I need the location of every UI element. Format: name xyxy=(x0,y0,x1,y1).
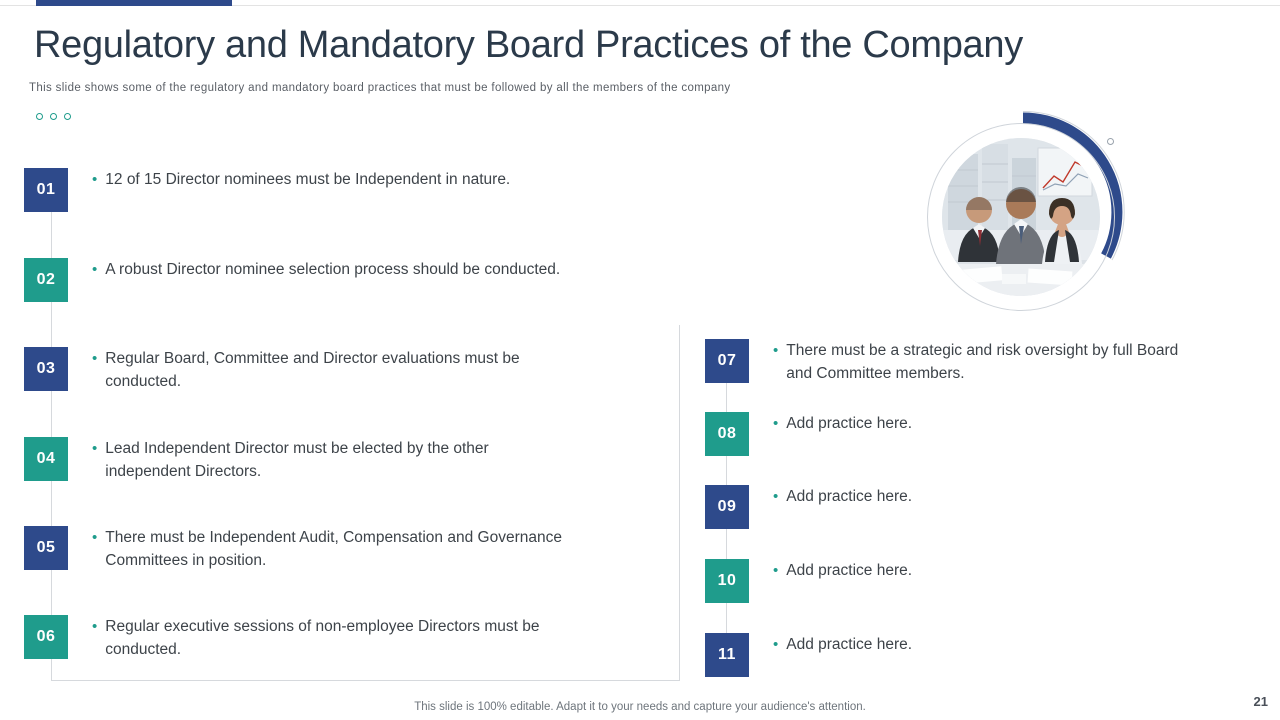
middle-connector-line xyxy=(679,325,680,681)
item-number-badge: 08 xyxy=(705,412,749,456)
bullet-icon: • xyxy=(773,561,778,580)
footer-note: This slide is 100% editable. Adapt it to… xyxy=(0,701,1280,713)
decorative-dots xyxy=(36,113,71,120)
bullet-icon: • xyxy=(92,528,97,547)
item-text: Add practice here. xyxy=(786,485,912,508)
dot-icon-3 xyxy=(64,113,71,120)
list-item-09: 09 • Add practice here. xyxy=(705,485,912,529)
list-item-11: 11 • Add practice here. xyxy=(705,633,912,677)
list-item-02: 02 • A robust Director nominee selection… xyxy=(24,258,560,302)
top-accent-bar xyxy=(36,0,232,6)
bullet-icon: • xyxy=(92,349,97,368)
item-number-badge: 11 xyxy=(705,633,749,677)
slide-canvas: Regulatory and Mandatory Board Practices… xyxy=(0,0,1280,720)
item-number-badge: 07 xyxy=(705,339,749,383)
item-number-badge: 10 xyxy=(705,559,749,603)
item-text: Lead Independent Director must be electe… xyxy=(105,437,575,483)
item-text: Add practice here. xyxy=(786,559,912,582)
list-item-06: 06 • Regular executive sessions of non-e… xyxy=(24,615,575,661)
dot-icon-2 xyxy=(50,113,57,120)
item-number-badge: 04 xyxy=(24,437,68,481)
small-circle-icon xyxy=(1107,138,1114,145)
item-text: Regular Board, Committee and Director ev… xyxy=(105,347,575,393)
bullet-icon: • xyxy=(773,487,778,506)
item-text: There must be Independent Audit, Compens… xyxy=(105,526,575,572)
item-text: There must be a strategic and risk overs… xyxy=(786,339,1186,385)
list-item-05: 05 • There must be Independent Audit, Co… xyxy=(24,526,575,572)
list-item-04: 04 • Lead Independent Director must be e… xyxy=(24,437,575,483)
list-item-10: 10 • Add practice here. xyxy=(705,559,912,603)
bullet-icon: • xyxy=(773,341,778,360)
bullet-icon: • xyxy=(773,635,778,654)
item-number-badge: 02 xyxy=(24,258,68,302)
item-text: Regular executive sessions of non-employ… xyxy=(105,615,575,661)
item-number-badge: 05 xyxy=(24,526,68,570)
bullet-icon: • xyxy=(92,439,97,458)
left-bottom-connector-line xyxy=(51,680,679,681)
item-number-badge: 06 xyxy=(24,615,68,659)
item-text: A robust Director nominee selection proc… xyxy=(105,258,560,281)
bullet-icon: • xyxy=(92,260,97,279)
bullet-icon: • xyxy=(92,617,97,636)
page-title: Regulatory and Mandatory Board Practices… xyxy=(34,22,1023,68)
list-item-07: 07 • There must be a strategic and risk … xyxy=(705,339,1186,385)
bullet-icon: • xyxy=(773,414,778,433)
page-number: 21 xyxy=(1254,694,1268,709)
item-number-badge: 03 xyxy=(24,347,68,391)
item-number-badge: 09 xyxy=(705,485,749,529)
item-text: Add practice here. xyxy=(786,633,912,656)
list-item-08: 08 • Add practice here. xyxy=(705,412,912,456)
item-text: 12 of 15 Director nominees must be Indep… xyxy=(105,168,510,191)
photo-badge xyxy=(921,110,1141,315)
item-number-badge: 01 xyxy=(24,168,68,212)
item-text: Add practice here. xyxy=(786,412,912,435)
business-meeting-photo xyxy=(942,138,1100,296)
list-item-01: 01 • 12 of 15 Director nominees must be … xyxy=(24,168,510,212)
list-item-03: 03 • Regular Board, Committee and Direct… xyxy=(24,347,575,393)
page-subtitle: This slide shows some of the regulatory … xyxy=(29,82,731,94)
bullet-icon: • xyxy=(92,170,97,189)
dot-icon-1 xyxy=(36,113,43,120)
